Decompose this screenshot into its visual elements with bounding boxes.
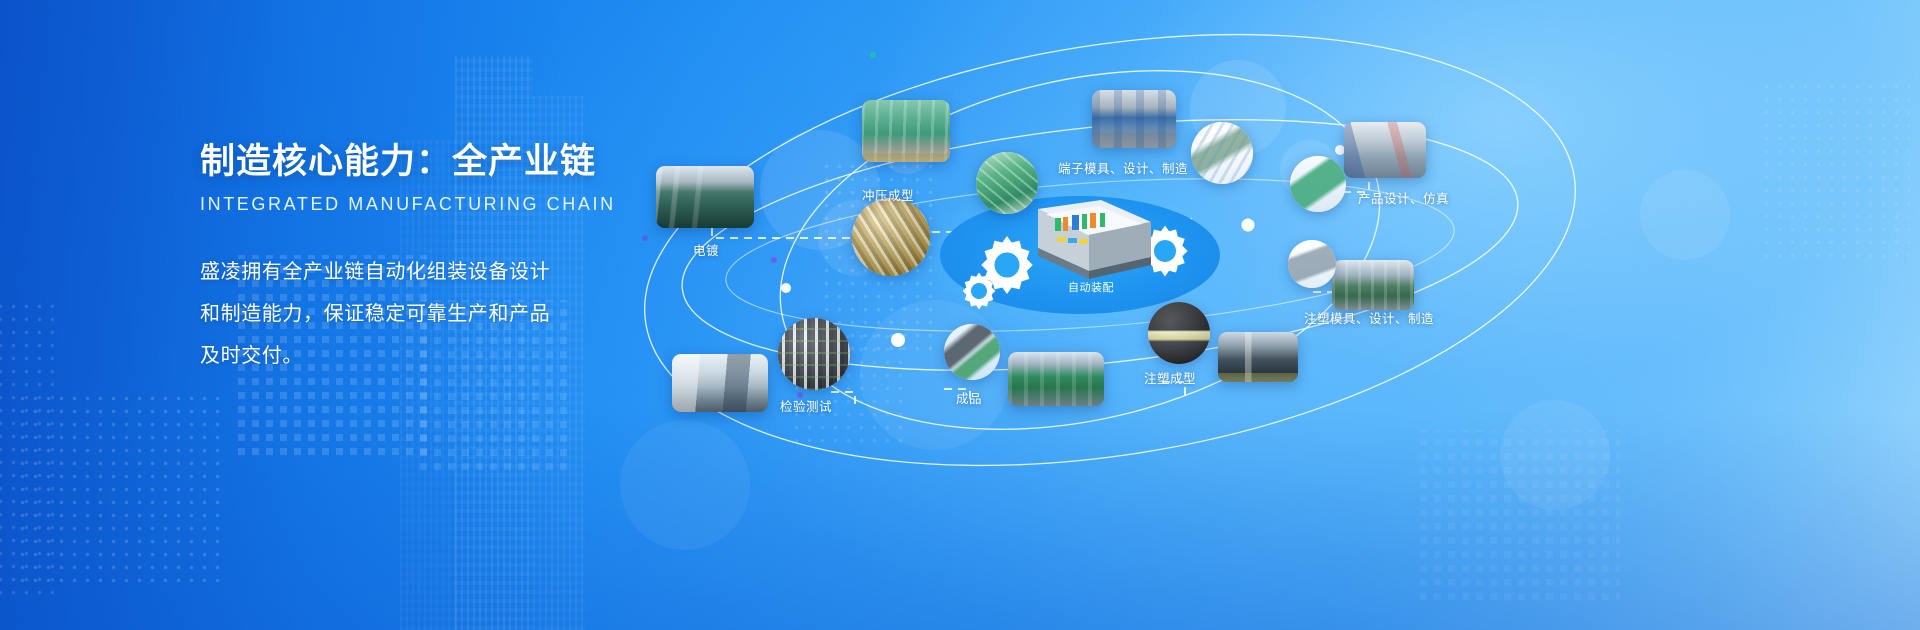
manufacturing-chain-diagram: 自动装配 电镀 冲压成型	[640, 0, 1920, 630]
hero-banner: 制造核心能力：全产业链 INTEGRATED MANUFACTURING CHA…	[0, 0, 1920, 630]
dot-pattern-left-edge	[0, 300, 54, 600]
electroplating-thumbnail[interactable]	[656, 166, 754, 228]
electroplating-detail-circle[interactable]	[852, 198, 930, 276]
node-label-inspection-testing: 检验测试	[780, 396, 832, 415]
center-label: 自动装配	[1036, 279, 1146, 295]
node-label-injection-molding: 注塑成型	[1144, 368, 1196, 387]
product-design-thumbnail[interactable]	[1344, 122, 1426, 178]
node-label-terminal-mold: 端子模具、设计、制造	[1058, 158, 1188, 177]
node-label-finished-product: 成品	[956, 388, 982, 407]
node-label-product-design: 产品设计、仿真	[1358, 188, 1449, 207]
finished-product-thumbnail[interactable]	[1008, 352, 1104, 406]
stamping-detail-circle[interactable]	[976, 152, 1038, 214]
terminal-mold-thumbnail[interactable]	[1092, 90, 1176, 148]
node-label-electroplating: 电镀	[693, 240, 719, 259]
node-label-stamping-forming: 冲压成型	[862, 185, 914, 204]
finished-product-detail-circle[interactable]	[944, 324, 1000, 380]
hero-copy-block: 制造核心能力：全产业链 INTEGRATED MANUFACTURING CHA…	[200, 143, 620, 377]
page-title: 制造核心能力：全产业链	[200, 143, 620, 182]
node-label-injection-mold: 注塑模具、设计、制造	[1304, 308, 1434, 327]
injection-mold-3d	[1026, 196, 1158, 288]
gear-small-left	[958, 270, 1000, 312]
stamping-thumbnail[interactable]	[862, 100, 950, 162]
terminal-mold-detail-circle[interactable]	[1191, 122, 1253, 184]
injection-molding-detail-circle[interactable]	[1148, 302, 1210, 364]
page-description: 盛凌拥有全产业链自动化组装设备设计和制造能力，保证稳定可靠生产和产品及时交付。	[200, 251, 560, 377]
injection-mold-thumbnail[interactable]	[1332, 260, 1414, 310]
inspection-testing-detail-circle[interactable]	[778, 318, 850, 390]
injection-molding-thumbnail[interactable]	[1218, 332, 1298, 382]
injection-mold-detail-circle[interactable]	[1288, 240, 1336, 288]
page-subtitle: INTEGRATED MANUFACTURING CHAIN	[200, 194, 620, 215]
product-design-detail-circle[interactable]	[1290, 156, 1346, 212]
inspection-testing-thumbnail[interactable]	[672, 354, 768, 412]
orbit-lines	[640, 0, 1920, 630]
